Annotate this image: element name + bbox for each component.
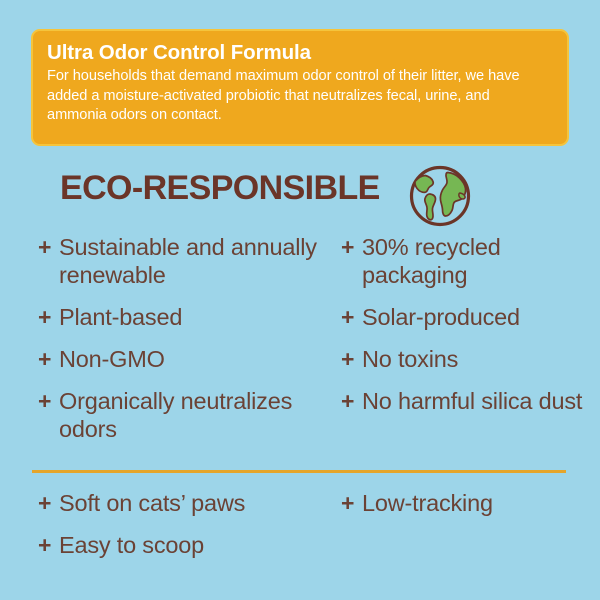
list-item: + Organically neutralizes odors bbox=[38, 387, 333, 443]
plus-icon: + bbox=[341, 233, 362, 261]
list-item-label: No harmful silica dust bbox=[362, 387, 582, 415]
plus-icon: + bbox=[38, 387, 59, 415]
list-item: + Plant-based bbox=[38, 303, 333, 331]
list-item-label: Non-GMO bbox=[59, 345, 165, 373]
list-item-label: No toxins bbox=[362, 345, 458, 373]
list-item: + No toxins bbox=[341, 345, 591, 373]
list-item: + Low-tracking bbox=[341, 489, 591, 517]
list-item: + No harmful silica dust bbox=[341, 387, 591, 415]
plus-icon: + bbox=[341, 489, 362, 517]
list-item-label: Plant-based bbox=[59, 303, 182, 331]
globe-icon bbox=[407, 163, 473, 229]
list-item-label: Soft on cats’ paws bbox=[59, 489, 245, 517]
usability-column-right: + Low-tracking bbox=[341, 489, 591, 531]
list-item: + 30% recycled packaging bbox=[341, 233, 591, 289]
callout-body-text: For households that demand maximum odor … bbox=[47, 67, 553, 126]
list-item: + Solar-produced bbox=[341, 303, 591, 331]
usability-column-left: + Soft on cats’ paws + Easy to scoop bbox=[38, 489, 338, 573]
list-item-label: Low-tracking bbox=[362, 489, 493, 517]
features-column-right: + 30% recycled packaging + Solar-produce… bbox=[341, 233, 591, 429]
section-divider bbox=[32, 470, 566, 473]
list-item: + Non-GMO bbox=[38, 345, 333, 373]
list-item-label: Sustainable and annually renewable bbox=[59, 233, 333, 289]
plus-icon: + bbox=[38, 303, 59, 331]
plus-icon: + bbox=[341, 387, 362, 415]
list-item: + Sustainable and annually renewable bbox=[38, 233, 333, 289]
plus-icon: + bbox=[341, 345, 362, 373]
plus-icon: + bbox=[341, 303, 362, 331]
plus-icon: + bbox=[38, 345, 59, 373]
plus-icon: + bbox=[38, 489, 59, 517]
list-item-label: Solar-produced bbox=[362, 303, 520, 331]
ultra-odor-control-callout: Ultra Odor Control Formula For household… bbox=[31, 29, 569, 146]
features-column-left: + Sustainable and annually renewable + P… bbox=[38, 233, 333, 457]
page-title: ECO-RESPONSIBLE bbox=[60, 168, 380, 208]
list-item-label: 30% recycled packaging bbox=[362, 233, 591, 289]
eco-responsible-infographic: Ultra Odor Control Formula For household… bbox=[0, 0, 600, 600]
list-item: + Soft on cats’ paws bbox=[38, 489, 338, 517]
list-item: + Easy to scoop bbox=[38, 531, 338, 559]
list-item-label: Easy to scoop bbox=[59, 531, 204, 559]
plus-icon: + bbox=[38, 233, 59, 261]
list-item-label: Organically neutralizes odors bbox=[59, 387, 333, 443]
callout-title: Ultra Odor Control Formula bbox=[47, 41, 553, 65]
eco-responsible-heading-row: ECO-RESPONSIBLE bbox=[0, 163, 600, 233]
plus-icon: + bbox=[38, 531, 59, 559]
